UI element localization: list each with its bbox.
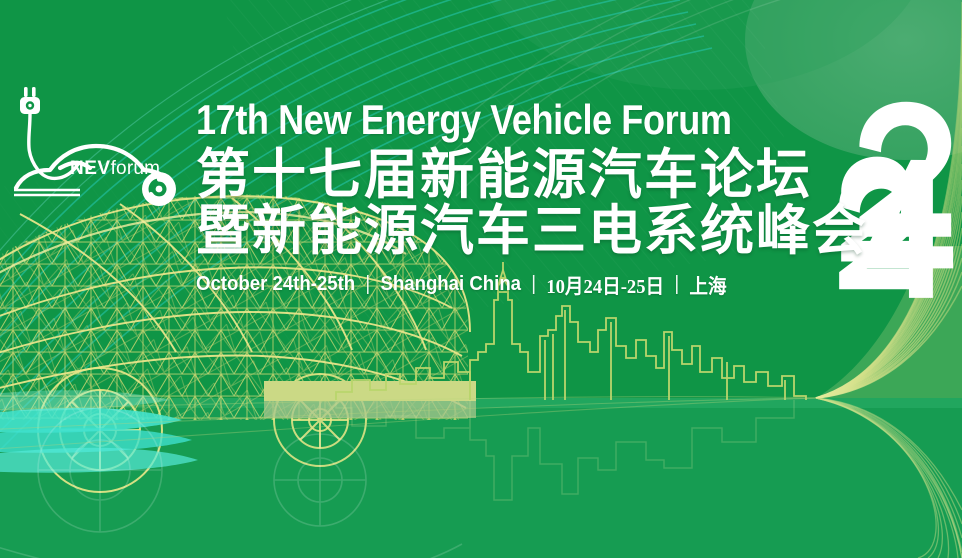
logo-word-forum: forum (111, 158, 161, 179)
logo-wordmark: NEVforum (70, 158, 160, 180)
logo-word-nev: NEV (70, 158, 111, 179)
poster-canvas: 2024 (0, 0, 962, 558)
year-mark-2024: 2024 (838, 96, 962, 312)
nevforum-logo[interactable]: NEVforum (8, 78, 188, 218)
logo-underline (14, 190, 80, 195)
charging-plug-icon (20, 87, 40, 114)
